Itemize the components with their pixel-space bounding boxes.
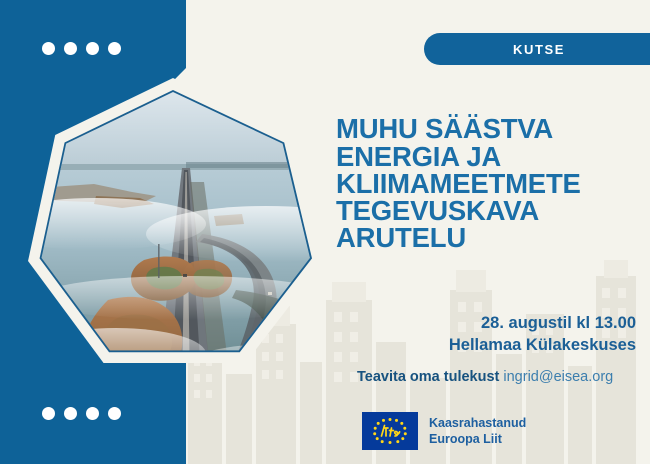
headline-line-5: ARUTELU: [336, 224, 636, 251]
headline-line-2: ENERGIA JA: [336, 143, 636, 170]
rsvp-email-link[interactable]: ingrid@eisea.org: [499, 369, 613, 385]
eu-flag-icon: [362, 412, 418, 450]
dots-decoration-bottom: [42, 407, 121, 420]
dot: [42, 42, 55, 55]
event-venue: Hellamaa Külakeskuses: [449, 334, 636, 356]
dots-decoration-top: [42, 42, 121, 55]
event-datetime: 28. augustil kl 13.00: [449, 312, 636, 334]
headline-line-4: TEGEVUSKAVA: [336, 197, 636, 224]
content-column: MUHU SÄÄSTVA ENERGIA JA KLIIMAMEETMETE T…: [336, 0, 650, 464]
eu-cofunding-logo: Kaasrahastanud Euroopa Liit: [362, 412, 526, 450]
hero-photo: [22, 78, 324, 378]
rsvp-line: Teavita oma tulekust ingrid@eisea.org: [357, 369, 613, 385]
dot: [108, 42, 121, 55]
dot: [108, 407, 121, 420]
rsvp-label: Teavita oma tulekust: [357, 369, 499, 385]
eu-cofunding-text: Kaasrahastanud Euroopa Liit: [429, 415, 526, 448]
eu-text-line-2: Euroopa Liit: [429, 431, 526, 448]
dot: [64, 407, 77, 420]
event-details: 28. augustil kl 13.00 Hellamaa Külakesku…: [449, 312, 636, 357]
kutse-badge: KUTSE: [424, 33, 650, 65]
dot: [86, 407, 99, 420]
headline-line-3: KLIIMAMEETMETE: [336, 170, 636, 197]
dot: [86, 42, 99, 55]
dot: [64, 42, 77, 55]
dot: [42, 407, 55, 420]
page-title: MUHU SÄÄSTVA ENERGIA JA KLIIMAMEETMETE T…: [336, 115, 636, 251]
headline-line-1: MUHU SÄÄSTVA: [336, 115, 636, 142]
eu-text-line-1: Kaasrahastanud: [429, 415, 526, 432]
invitation-poster: KUTSE MUHU SÄÄSTVA ENERGIA JA KLIIMAMEET…: [0, 0, 650, 464]
